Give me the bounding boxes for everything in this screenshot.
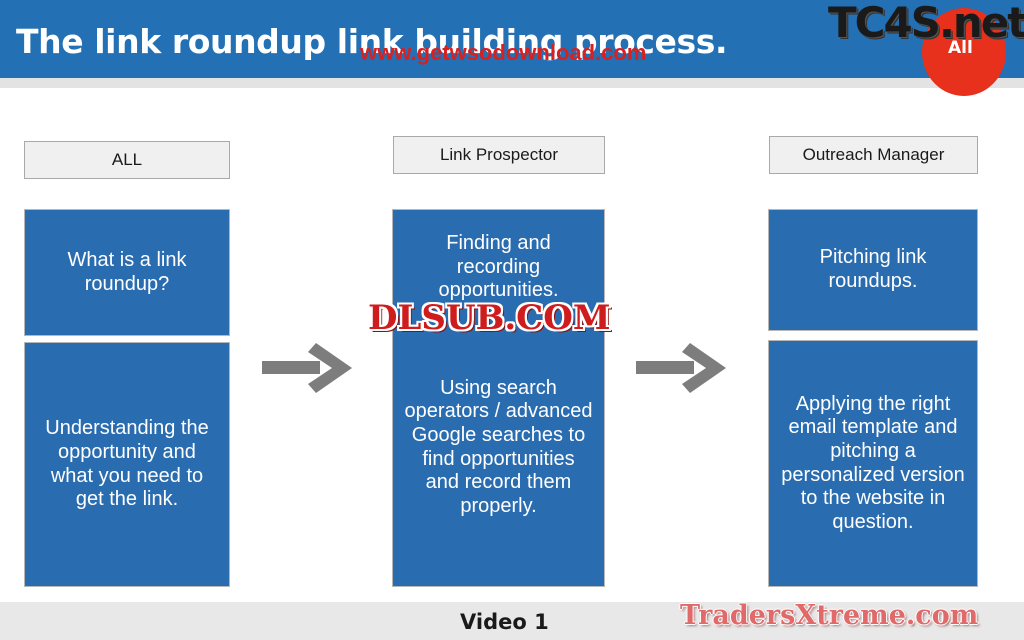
process-box-prospector: Finding and recording opportunities. Usi… <box>392 209 605 587</box>
video-label: Video 1 <box>460 610 549 634</box>
slide-canvas: The link roundup link building process. … <box>0 0 1024 640</box>
tc4s-logo: TC4S.net All <box>824 0 1024 92</box>
process-box-all-1: What is a link roundup? <box>24 209 230 336</box>
process-box-all-2: Understanding the opportunity and what y… <box>24 342 230 587</box>
column-header-all: ALL <box>24 141 230 179</box>
dlsub-watermark: DLSUB.COM <box>368 298 610 338</box>
column-header-outreach-manager: Outreach Manager <box>769 136 978 174</box>
header-watermark: www.getwsodownload.com <box>360 40 646 66</box>
arrow-right-icon-2 <box>634 337 730 399</box>
arrow-right-icon-1 <box>260 337 356 399</box>
column-header-link-prospector: Link Prospector <box>393 136 605 174</box>
logo-text: TC4S.net <box>828 0 1024 47</box>
process-box-prospector-1: Finding and recording opportunities. <box>403 232 594 303</box>
process-box-outreach-2: Applying the right email template and pi… <box>768 340 978 587</box>
tradersxtreme-watermark: TradersXtreme.com <box>680 600 978 631</box>
process-box-prospector-2: Using search operators / advanced Google… <box>403 377 594 519</box>
logo-badge-label: All <box>948 38 973 58</box>
process-box-outreach-1: Pitching link roundups. <box>768 209 978 331</box>
